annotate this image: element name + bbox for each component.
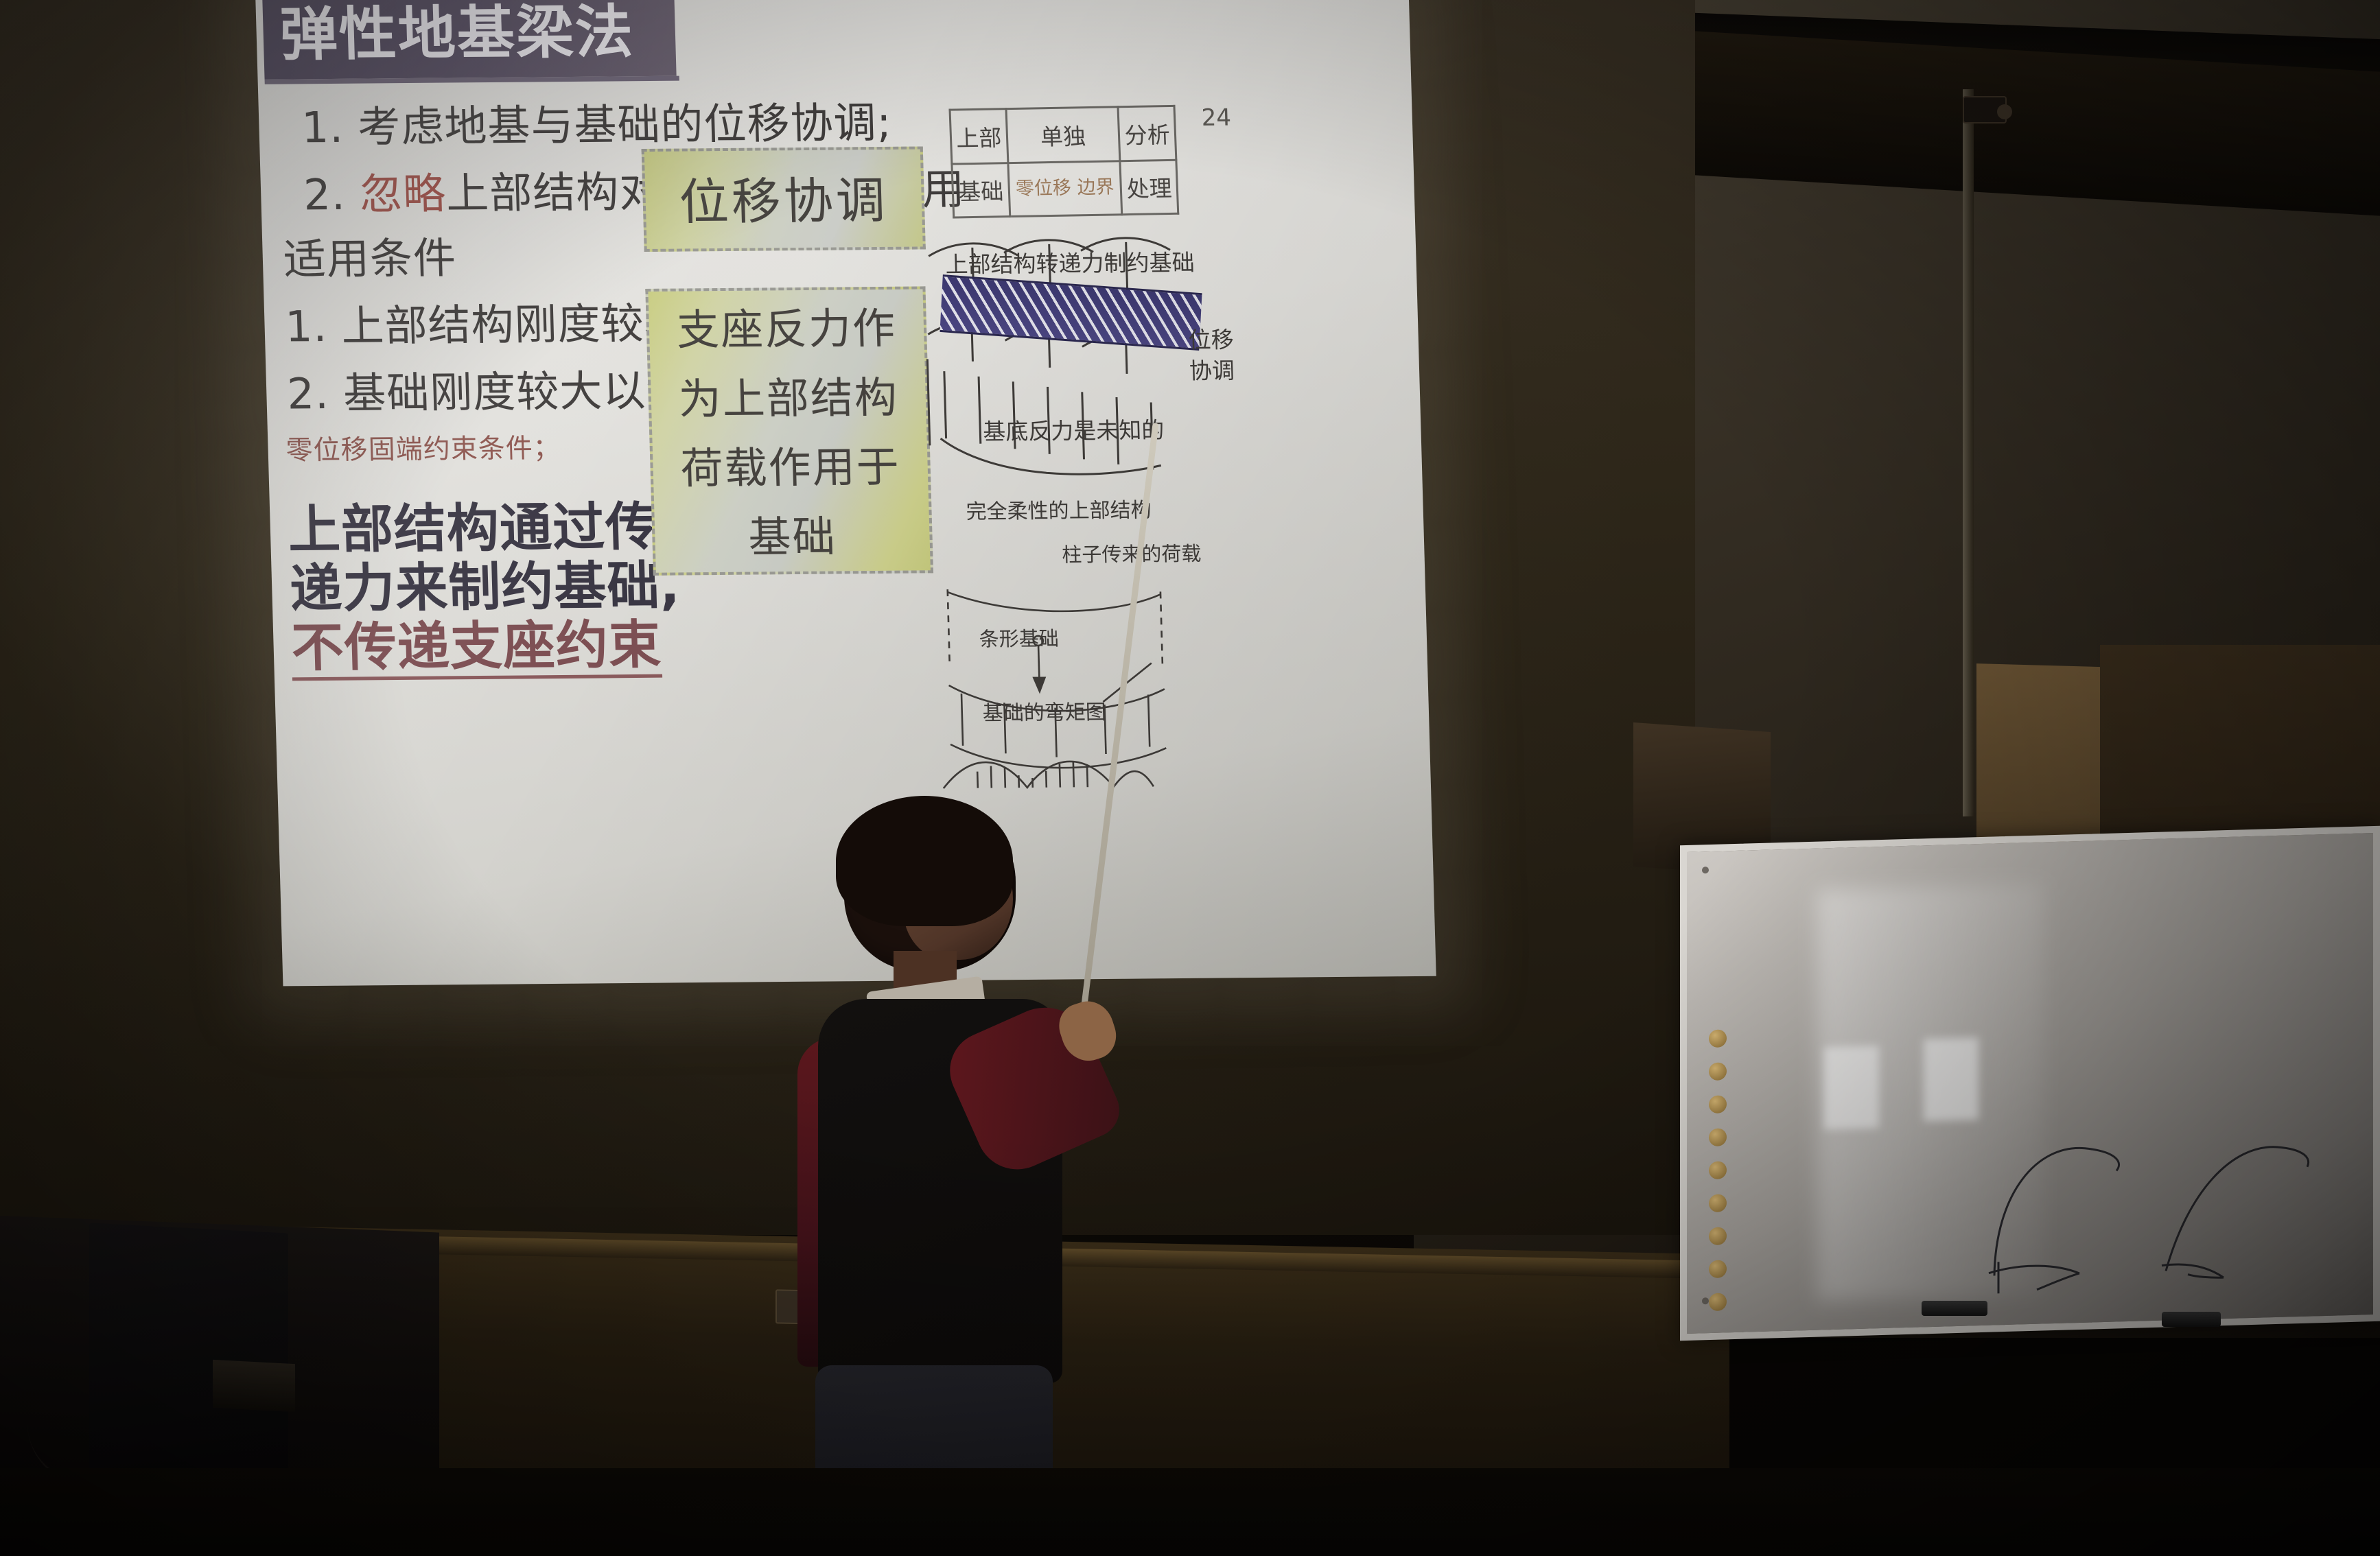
magnet-icon[interactable] (1709, 1128, 1727, 1146)
bold-line-1: 上部结构通过传 (288, 497, 679, 560)
label-disp-1: 位移 (1188, 325, 1234, 355)
magnet-icon[interactable] (1709, 1227, 1727, 1245)
ceiling-speaker-icon (1997, 104, 2012, 119)
slide-page-number: 24 (1201, 104, 1231, 132)
cell-1-1: 零位移 边界 (1007, 161, 1122, 216)
lecture-hall-scene: 弹性地基梁法 1. 考虑地基与基础的位移协调; 2. 忽略上部结构对基础的约束作… (0, 0, 2380, 1556)
cell-1-0: 基础 (952, 163, 1010, 217)
label-column-load: 柱子传来的荷载 (1062, 538, 1202, 568)
label-displacement-compat: 位移 协调 (1188, 325, 1235, 386)
whiteboard-screw (1702, 1297, 1709, 1304)
label-beam-top: 上部结构转递力制约基础 (945, 244, 1195, 279)
magnet-icon[interactable] (1709, 1293, 1727, 1311)
floor (0, 1468, 2380, 1556)
whiteboard-highlight-b (1924, 1037, 1979, 1121)
slide-bold-block: 上部结构通过传 递力来制约基础, 不传递支座约束 (288, 497, 683, 681)
slide-line-1: 1. 考虑地基与基础的位移协调; (301, 88, 892, 154)
whiteboard-drawing (1982, 1060, 2339, 1310)
bold-line-2: 递力来制约基础, (289, 556, 681, 618)
highlight-box-reaction: 支座反力作 为上部结构 荷载作用于 基础 (645, 286, 933, 575)
table-row: 基础 零位移 边界 处理 (952, 160, 1178, 217)
cell-0-1: 单独 (1006, 107, 1121, 163)
highlight-box-displacement: 位移协调 (642, 146, 926, 252)
label-beam-bottom: 基底反力是未知的 (983, 412, 1165, 446)
magnet-icon[interactable] (1709, 1194, 1727, 1212)
whiteboard-highlight-a (1824, 1046, 1879, 1129)
magnet-icon[interactable] (1709, 1062, 1727, 1081)
label-moment-diagram: 基础的弯矩图 (982, 695, 1106, 727)
whiteboard-screw (1702, 867, 1709, 873)
cell-1-2: 处理 (1120, 160, 1178, 215)
whiteboard-magnets[interactable] (1709, 1029, 1728, 1325)
table-row: 上部 单独 分析 (950, 106, 1176, 163)
hl2-line-2: 为上部结构 (650, 362, 926, 434)
wall-panel-edge (1963, 89, 1974, 816)
label-disp-2: 协调 (1189, 355, 1235, 386)
magnet-icon[interactable] (1709, 1161, 1727, 1179)
label-flexible-superstructure: 完全柔性的上部结构 (966, 493, 1152, 525)
hl2-line-3: 荷载作用于 (652, 432, 929, 503)
slide-table: 上部 单独 分析 基础 零位移 边界 处理 (948, 105, 1179, 219)
presenter-hair (836, 796, 1013, 926)
whiteboard-eraser[interactable] (2162, 1312, 2221, 1327)
magnet-icon[interactable] (1709, 1095, 1727, 1113)
magnet-icon[interactable] (1709, 1029, 1727, 1048)
whiteboard[interactable] (1680, 826, 2380, 1341)
podium-equipment (213, 1360, 295, 1412)
slide-line-2-emphasis: 忽略 (359, 169, 447, 220)
hl2-line-1: 支座反力作 (649, 293, 925, 364)
slide-line-4: 1. 上部结构刚度较小 (284, 288, 688, 353)
presenter (734, 796, 1119, 1556)
magnet-icon[interactable] (1709, 1260, 1727, 1278)
slide-line-3: 适用条件 (282, 223, 457, 286)
label-strip-foundation: 条形基础 (979, 623, 1059, 652)
hl2-line-4: 基础 (654, 501, 931, 572)
cell-0-2: 分析 (1118, 106, 1176, 161)
whiteboard-marker[interactable] (1922, 1301, 1987, 1316)
bold-line-3: 不传递支座约束 (291, 615, 663, 681)
slide-small-note: 零位移固端约束条件； (285, 427, 561, 467)
cell-0-0: 上部 (950, 109, 1007, 164)
